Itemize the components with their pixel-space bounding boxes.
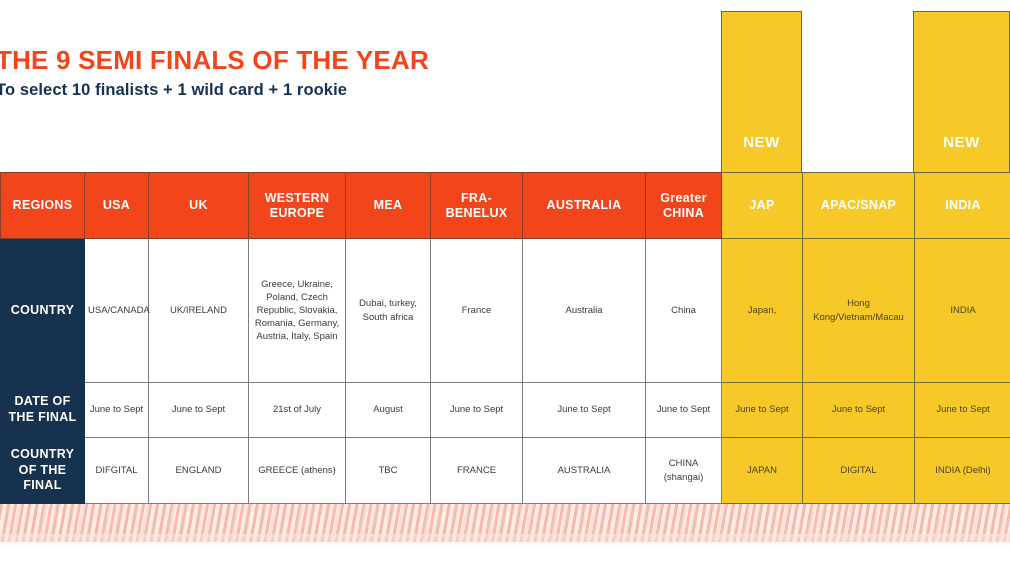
rowlabel-country: COUNTRY (1, 239, 85, 383)
cell-date-india: June to Sept (915, 383, 1010, 438)
cell-country-usa: USA/CANADA (85, 239, 149, 383)
cell-date-fra-benelux: June to Sept (431, 383, 523, 438)
cell-final-jap: JAPAN (722, 438, 803, 504)
header-col-jap: JAP (722, 173, 803, 239)
page-subtitle: To select 10 finalists + 1 wild card + 1… (0, 81, 516, 100)
cell-country-fra-benelux: France (431, 239, 523, 383)
rowlabel-date-of-final: DATE OF THE FINAL (1, 383, 85, 438)
cell-final-india: INDIA (Delhi) (915, 438, 1010, 504)
slide-root: THE 9 SEMI FINALS OF THE YEAR To select … (0, 0, 1010, 571)
cell-final-fra-benelux: FRANCE (431, 438, 523, 504)
header-col-australia: AUSTRALIA (523, 173, 646, 239)
table-row-country-of-final: COUNTRY OF THE FINAL DIFGITAL ENGLAND GR… (1, 438, 1010, 504)
cell-country-india: INDIA (915, 239, 1010, 383)
cell-date-apac-snap: June to Sept (803, 383, 915, 438)
regions-table: REGIONS USA UK WESTERN EUROPE MEA FRA-BE… (0, 172, 1010, 504)
cell-date-greater-china: June to Sept (646, 383, 722, 438)
cell-country-jap: Japan, (722, 239, 803, 383)
cell-country-australia: Australia (523, 239, 646, 383)
header-col-apac-snap: APAC/SNAP (803, 173, 915, 239)
table-header-row: REGIONS USA UK WESTERN EUROPE MEA FRA-BE… (1, 173, 1010, 239)
decorative-pattern-fade (0, 534, 1010, 548)
header-col-mea: MEA (346, 173, 431, 239)
cell-date-mea: August (346, 383, 431, 438)
cell-final-apac-snap: DIGITAL (803, 438, 915, 504)
cell-date-jap: June to Sept (722, 383, 803, 438)
header-col-india: INDIA (915, 173, 1010, 239)
page-title: THE 9 SEMI FINALS OF THE YEAR (0, 46, 516, 74)
new-banner-india: NEW (913, 11, 1010, 173)
cell-country-uk: UK/IRELAND (149, 239, 249, 383)
table-row-country: COUNTRY USA/CANADA UK/IRELAND Greece, Uk… (1, 239, 1010, 383)
header-col-greater-china: Greater CHINA (646, 173, 722, 239)
cell-final-greater-china: CHINA (shangai) (646, 438, 722, 504)
cell-final-usa: DIFGITAL (85, 438, 149, 504)
rowlabel-country-of-final: COUNTRY OF THE FINAL (1, 438, 85, 504)
cell-date-uk: June to Sept (149, 383, 249, 438)
header-col-uk: UK (149, 173, 249, 239)
cell-country-greater-china: China (646, 239, 722, 383)
header-regions: REGIONS (1, 173, 85, 239)
cell-date-australia: June to Sept (523, 383, 646, 438)
header-col-western-europe: WESTERN EUROPE (249, 173, 346, 239)
cell-final-mea: TBC (346, 438, 431, 504)
header-col-usa: USA (85, 173, 149, 239)
cell-final-western-europe: GREECE (athens) (249, 438, 346, 504)
new-banner-jap: NEW (721, 11, 802, 173)
cell-date-western-europe: 21st of July (249, 383, 346, 438)
cell-country-mea: Dubai, turkey, South africa (346, 239, 431, 383)
table-row-date-of-final: DATE OF THE FINAL June to Sept June to S… (1, 383, 1010, 438)
cell-country-western-europe: Greece, Ukraine, Poland, Czech Republic,… (249, 239, 346, 383)
cell-country-apac-snap: Hong Kong/Vietnam/Macau (803, 239, 915, 383)
header-col-fra-benelux: FRA-BENELUX (431, 173, 523, 239)
title-block: THE 9 SEMI FINALS OF THE YEAR To select … (0, 46, 516, 100)
cell-date-usa: June to Sept (85, 383, 149, 438)
cell-final-australia: AUSTRALIA (523, 438, 646, 504)
cell-final-uk: ENGLAND (149, 438, 249, 504)
